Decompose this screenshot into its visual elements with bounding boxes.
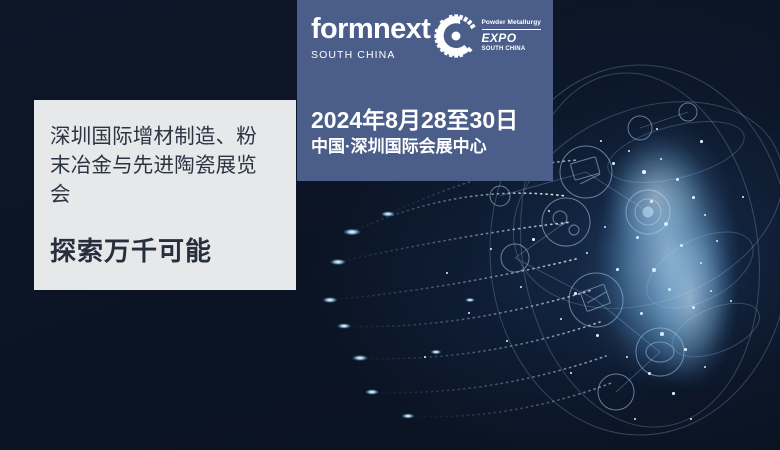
header-banner: formnext SOUTH CHINA [297, 0, 553, 181]
head-glow [588, 120, 748, 420]
event-dates-block: 2024年8月28至30日 中国·深圳国际会展中心 [311, 108, 518, 157]
event-venue: 中国·深圳国际会展中心 [311, 137, 518, 157]
expo-logo-text: Powder Metallurgy EXPO SOUTH CHINA [482, 20, 542, 52]
info-panel: 深圳国际增材制造、粉末冶金与先进陶瓷展览会 探索万千可能 [34, 100, 296, 290]
formnext-logo: formnext SOUTH CHINA [311, 12, 430, 61]
banner-logo-row: formnext SOUTH CHINA [311, 12, 545, 74]
formnext-wordmark: formnext [311, 15, 430, 44]
formnext-region: SOUTH CHINA [311, 49, 430, 61]
info-panel-content: 深圳国际增材制造、粉末冶金与先进陶瓷展览会 探索万千可能 [34, 100, 296, 268]
event-title: 深圳国际增材制造、粉末冶金与先进陶瓷展览会 [50, 122, 276, 209]
expo-logo-line1: Powder Metallurgy [482, 20, 542, 27]
expo-logo-line3: SOUTH CHINA [482, 46, 542, 52]
powder-metallurgy-expo-logo: Powder Metallurgy EXPO SOUTH CHINA [434, 12, 542, 58]
event-poster: formnext SOUTH CHINA [0, 0, 780, 450]
expo-logo-line2: EXPO [482, 32, 542, 44]
event-dates: 2024年8月28至30日 [311, 108, 518, 134]
gear-logo-icon [434, 14, 478, 58]
event-tagline: 探索万千可能 [50, 231, 276, 268]
expo-logo-rule [482, 29, 542, 30]
